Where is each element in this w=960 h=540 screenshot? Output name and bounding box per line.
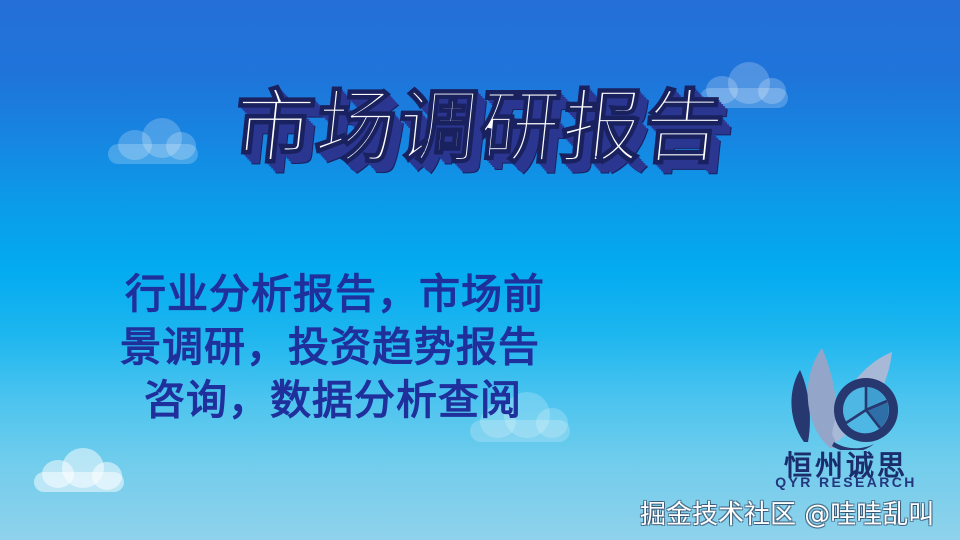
headline-container: 市场调研报告 bbox=[0, 88, 960, 168]
body-line-2: 景调研，投资趋势报告 bbox=[0, 321, 660, 374]
leaf-pie-chart-icon bbox=[770, 338, 920, 450]
body-line-3: 咨询，数据分析查阅 bbox=[0, 374, 660, 427]
brand-logo: 恒州诚思 QYR RESEARCH bbox=[748, 338, 944, 498]
page-title: 市场调研报告 bbox=[230, 88, 730, 168]
body-copy: 行业分析报告，市场前 景调研，投资趋势报告 咨询，数据分析查阅 bbox=[0, 268, 660, 427]
brand-subtitle: QYR RESEARCH bbox=[748, 474, 944, 490]
watermark-text: 掘金技术社区 @哇哇乱叫 bbox=[640, 494, 934, 531]
body-line-1: 行业分析报告，市场前 bbox=[0, 268, 660, 321]
poster-canvas: 市场调研报告 行业分析报告，市场前 景调研，投资趋势报告 咨询，数据分析查阅 bbox=[0, 0, 960, 540]
